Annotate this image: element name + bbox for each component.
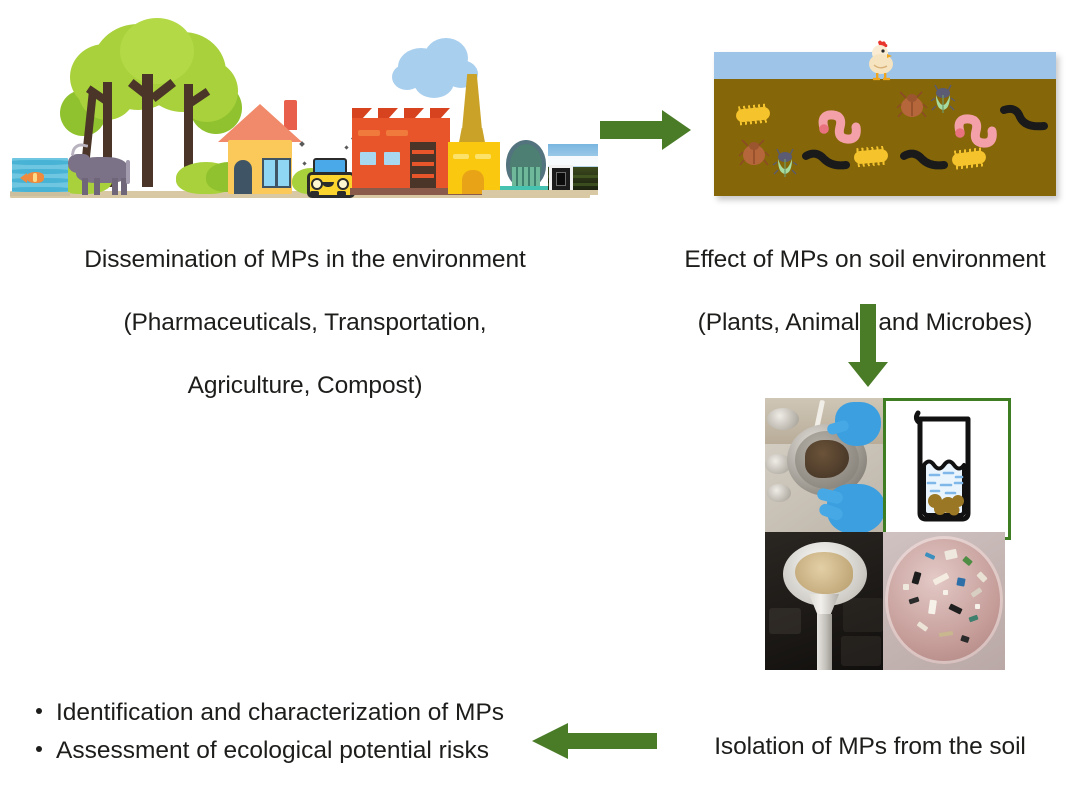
graphical-abstract-page: Dissemination of MPs in the environment …	[0, 0, 1080, 797]
assessment-bullet-list: Identification and characterization of M…	[36, 694, 516, 770]
smoke-cloud	[392, 64, 422, 90]
caption-line: (Pharmaceuticals, Transportation,	[22, 307, 588, 338]
filtration-funnel-photo	[765, 532, 885, 670]
house-roof	[218, 104, 302, 142]
arrow-isolation-to-assessment	[530, 722, 658, 760]
black-larva-icon	[900, 148, 948, 174]
arrow-dissemination-to-soil	[600, 108, 692, 152]
green-beetle-icon	[930, 84, 956, 114]
density-separation-beaker	[883, 398, 1011, 540]
petri-dish	[885, 536, 1003, 664]
sparkle-icon	[299, 141, 305, 147]
method-photo-collage	[765, 398, 1005, 670]
factory-stripe	[358, 130, 380, 136]
car-headlight	[337, 178, 349, 190]
window-mullion	[275, 160, 278, 186]
photo-inset-content	[556, 172, 566, 186]
larva-glyph	[1000, 104, 1048, 134]
microplastic-fragment	[903, 584, 909, 590]
caption-dissemination: Dissemination of MPs in the environment …	[22, 213, 588, 433]
black-larva-icon	[1000, 104, 1048, 134]
funnel-stem	[817, 614, 832, 670]
scene-right-base	[482, 190, 598, 195]
buffalo-leg	[112, 178, 118, 195]
beetle-glyph	[738, 138, 770, 168]
beetle-icon	[896, 90, 928, 120]
microplastic-fragment	[956, 577, 965, 586]
water-wave	[12, 160, 68, 165]
black-larva-icon	[802, 148, 850, 174]
arrow-soil-to-isolation	[846, 304, 890, 388]
bullet-text: Identification and characterization of M…	[56, 694, 504, 732]
funnel-neck	[809, 594, 839, 616]
sample-dish	[767, 484, 791, 502]
sparkle-icon	[344, 145, 348, 149]
caption-line: Dissemination of MPs in the environment	[22, 244, 588, 275]
bacteria-icon	[735, 106, 770, 122]
car-headlight	[311, 178, 323, 190]
buffalo-horn	[71, 142, 89, 159]
gate-rung	[412, 174, 434, 178]
arrow-right-icon	[600, 108, 692, 152]
bullet-dot	[36, 746, 42, 752]
buffalo-leg	[94, 178, 100, 195]
water-tank	[12, 158, 68, 194]
fish-stripe	[33, 173, 37, 182]
caption-isolation: Isolation of MPs from the soil (Sieving,…	[660, 700, 1080, 797]
field-photo	[548, 144, 598, 194]
microplastic-fragment	[943, 590, 948, 595]
tree-foliage	[120, 18, 194, 84]
beaker-glyph	[886, 401, 1002, 531]
larva-glyph	[900, 148, 948, 174]
buffalo-leg	[82, 178, 88, 195]
house-window	[262, 158, 291, 188]
factory-gate	[410, 142, 436, 194]
yellow-building-stripe	[475, 154, 491, 159]
petri-dish-microplastics-photo	[883, 532, 1005, 670]
gate-rung	[412, 150, 434, 154]
photo-inset-frame	[549, 165, 573, 193]
gate-rung	[412, 162, 434, 166]
tank-base	[10, 192, 70, 196]
beetle-glyph	[896, 90, 928, 120]
arrow-left-icon	[530, 722, 658, 760]
environment-scene	[0, 12, 600, 204]
buffalo-tail	[126, 160, 130, 184]
factory-window	[360, 152, 376, 165]
sparkle-icon	[302, 161, 306, 165]
green-beetle-glyph	[930, 84, 956, 114]
dome-grid	[512, 167, 540, 187]
factory-window	[384, 152, 400, 165]
filter-residue	[795, 552, 853, 594]
microplastic-fragment	[975, 604, 980, 609]
car-wheel	[310, 191, 319, 196]
house-door	[234, 160, 252, 194]
beetle-icon	[738, 138, 770, 168]
list-item: Assessment of ecological potential risks	[36, 732, 516, 770]
sieving-photo	[765, 398, 885, 534]
chicken-icon	[860, 39, 900, 81]
factory-stripe	[386, 130, 408, 136]
photo-blur	[843, 598, 883, 632]
larva-glyph	[802, 148, 850, 174]
fish-tail-icon	[20, 173, 27, 183]
green-beetle-glyph	[772, 148, 798, 178]
caption-line: Effect of MPs on soil environment	[650, 244, 1080, 275]
photo-blur	[769, 608, 801, 634]
sample-dish	[767, 408, 799, 430]
list-item: Identification and characterization of M…	[36, 694, 516, 732]
bullet-text: Assessment of ecological potential risks	[56, 732, 489, 770]
arrow-down-icon	[846, 304, 890, 388]
caption-line: Isolation of MPs from the soil	[660, 731, 1080, 762]
chicken-glyph	[860, 39, 900, 81]
car-wheel	[337, 191, 346, 196]
bullet-dot	[36, 708, 42, 714]
yellow-building-stripe	[453, 154, 469, 159]
yellow-building-door	[462, 170, 484, 194]
green-beetle-icon	[772, 148, 798, 178]
soil-cross-section	[714, 52, 1056, 196]
caption-line: Agriculture, Compost)	[22, 370, 588, 401]
photo-blur	[841, 636, 881, 666]
